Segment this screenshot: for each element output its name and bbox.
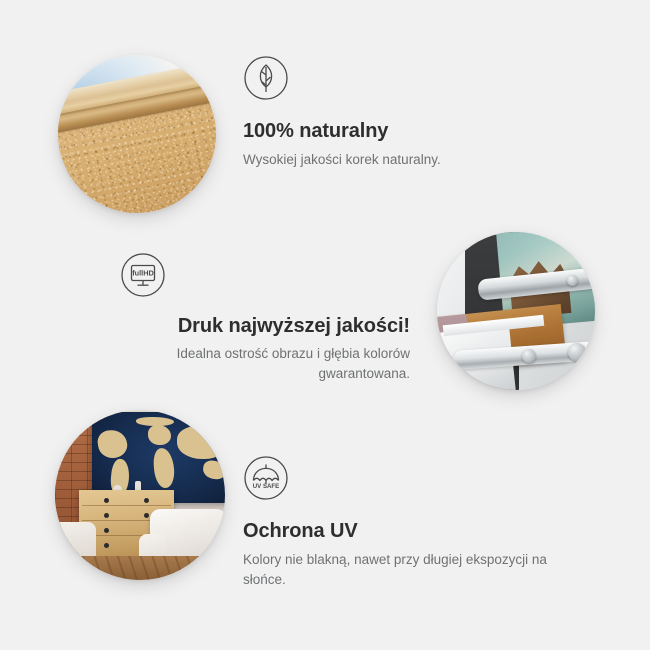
feature-title: 100% naturalny <box>243 119 573 144</box>
uv-safe-icon-label: UV SAFE <box>253 483 279 490</box>
cork-board-closeup-photo <box>58 55 216 213</box>
fullhd-icon-label: fullHD <box>132 268 153 277</box>
feature-block-uv: UV SAFE Ochrona UV Kolory nie blakną, na… <box>243 455 593 591</box>
feature-block-natural: 100% naturalny Wysokiej jakości korek na… <box>243 55 573 170</box>
feature-block-print: fullHD Druk najwyższej jakości! Idealna … <box>120 252 410 385</box>
feature-description: Kolory nie blakną, nawet przy długiej ek… <box>243 550 593 591</box>
uv-safe-umbrella-in-circle-icon: UV SAFE <box>243 455 593 501</box>
feature-title: Druk najwyższej jakości! <box>120 314 410 339</box>
infographic-stage: 100% naturalny Wysokiej jakości korek na… <box>0 0 650 650</box>
room-with-world-map-canvas-photo <box>55 410 225 580</box>
printing-machine-photo <box>437 232 595 390</box>
feature-title: Ochrona UV <box>243 519 593 544</box>
feature-description: Idealna ostrość obrazu i głębia kolorów … <box>120 344 410 385</box>
leaf-in-circle-icon <box>243 55 573 101</box>
fullhd-monitor-in-circle-icon: fullHD <box>120 252 410 298</box>
feature-description: Wysokiej jakości korek naturalny. <box>243 150 573 170</box>
